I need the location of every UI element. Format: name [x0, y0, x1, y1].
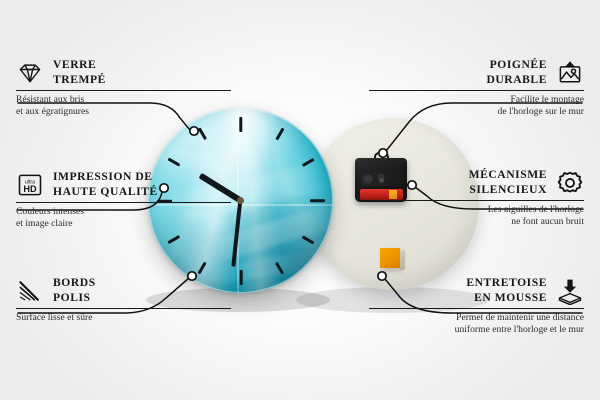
callout-marker-poignee[interactable] — [379, 149, 387, 157]
feature-header: BORDSPOLIS — [16, 276, 231, 305]
feature-header: VERRETREMPÉ — [16, 58, 231, 87]
picture-hanger-icon — [556, 59, 584, 87]
diamond-icon — [16, 59, 44, 87]
feature-divider — [16, 308, 231, 309]
feature-description: Surface lisse et sûre — [16, 312, 231, 324]
feature-divider — [369, 200, 584, 201]
feature-impression-haute-qualite: ultra HD IMPRESSION DEHAUTE QUALITÉ Coul… — [16, 170, 231, 230]
feature-entretoise-en-mousse: ENTRETOISEEN MOUSSE Permet de maintenir … — [369, 276, 584, 336]
feature-description: Résistant aux briset aux égratignures — [16, 94, 231, 117]
feature-divider — [16, 90, 231, 91]
feature-description: Permet de maintenir une distanceuniforme… — [369, 312, 584, 335]
ultra-hd-icon: ultra HD — [16, 171, 44, 199]
feature-title: ENTRETOISEEN MOUSSE — [466, 276, 547, 305]
feature-header: ENTRETOISEEN MOUSSE — [369, 276, 584, 305]
feature-poignee-durable: POIGNÉEDURABLE Facilite le montagede l'h… — [369, 58, 584, 118]
feature-bords-polis: BORDSPOLIS Surface lisse et sûre — [16, 276, 231, 324]
feature-header: MÉCANISMESILENCIEUX — [369, 168, 584, 197]
feature-verre-trempe: VERRETREMPÉ Résistant aux briset aux égr… — [16, 58, 231, 118]
feature-title: BORDSPOLIS — [53, 276, 96, 305]
svg-text:HD: HD — [23, 184, 37, 194]
gear-icon — [556, 169, 584, 197]
feature-description: Facilite le montagede l'horloge sur le m… — [369, 94, 584, 117]
feature-title: IMPRESSION DEHAUTE QUALITÉ — [53, 170, 158, 199]
feature-divider — [369, 90, 584, 91]
feature-header: POIGNÉEDURABLE — [369, 58, 584, 87]
callout-marker-verre[interactable] — [190, 127, 198, 135]
feature-divider — [369, 308, 584, 309]
feature-description: Les aiguilles de l'horlogene font aucun … — [369, 204, 584, 227]
feature-title: MÉCANISMESILENCIEUX — [469, 168, 547, 197]
foam-spacer-icon — [556, 277, 584, 305]
polished-edge-icon — [16, 277, 44, 305]
feature-mecanisme-silencieux: MÉCANISMESILENCIEUX Les aiguilles de l'h… — [369, 168, 584, 228]
feature-title: VERRETREMPÉ — [53, 58, 106, 87]
feature-header: ultra HD IMPRESSION DEHAUTE QUALITÉ — [16, 170, 231, 199]
infographic-stage: VERRETREMPÉ Résistant aux briset aux égr… — [0, 0, 600, 400]
feature-divider — [16, 202, 231, 203]
feature-title: POIGNÉEDURABLE — [486, 58, 547, 87]
feature-description: Couleurs intenseset image claire — [16, 206, 231, 229]
